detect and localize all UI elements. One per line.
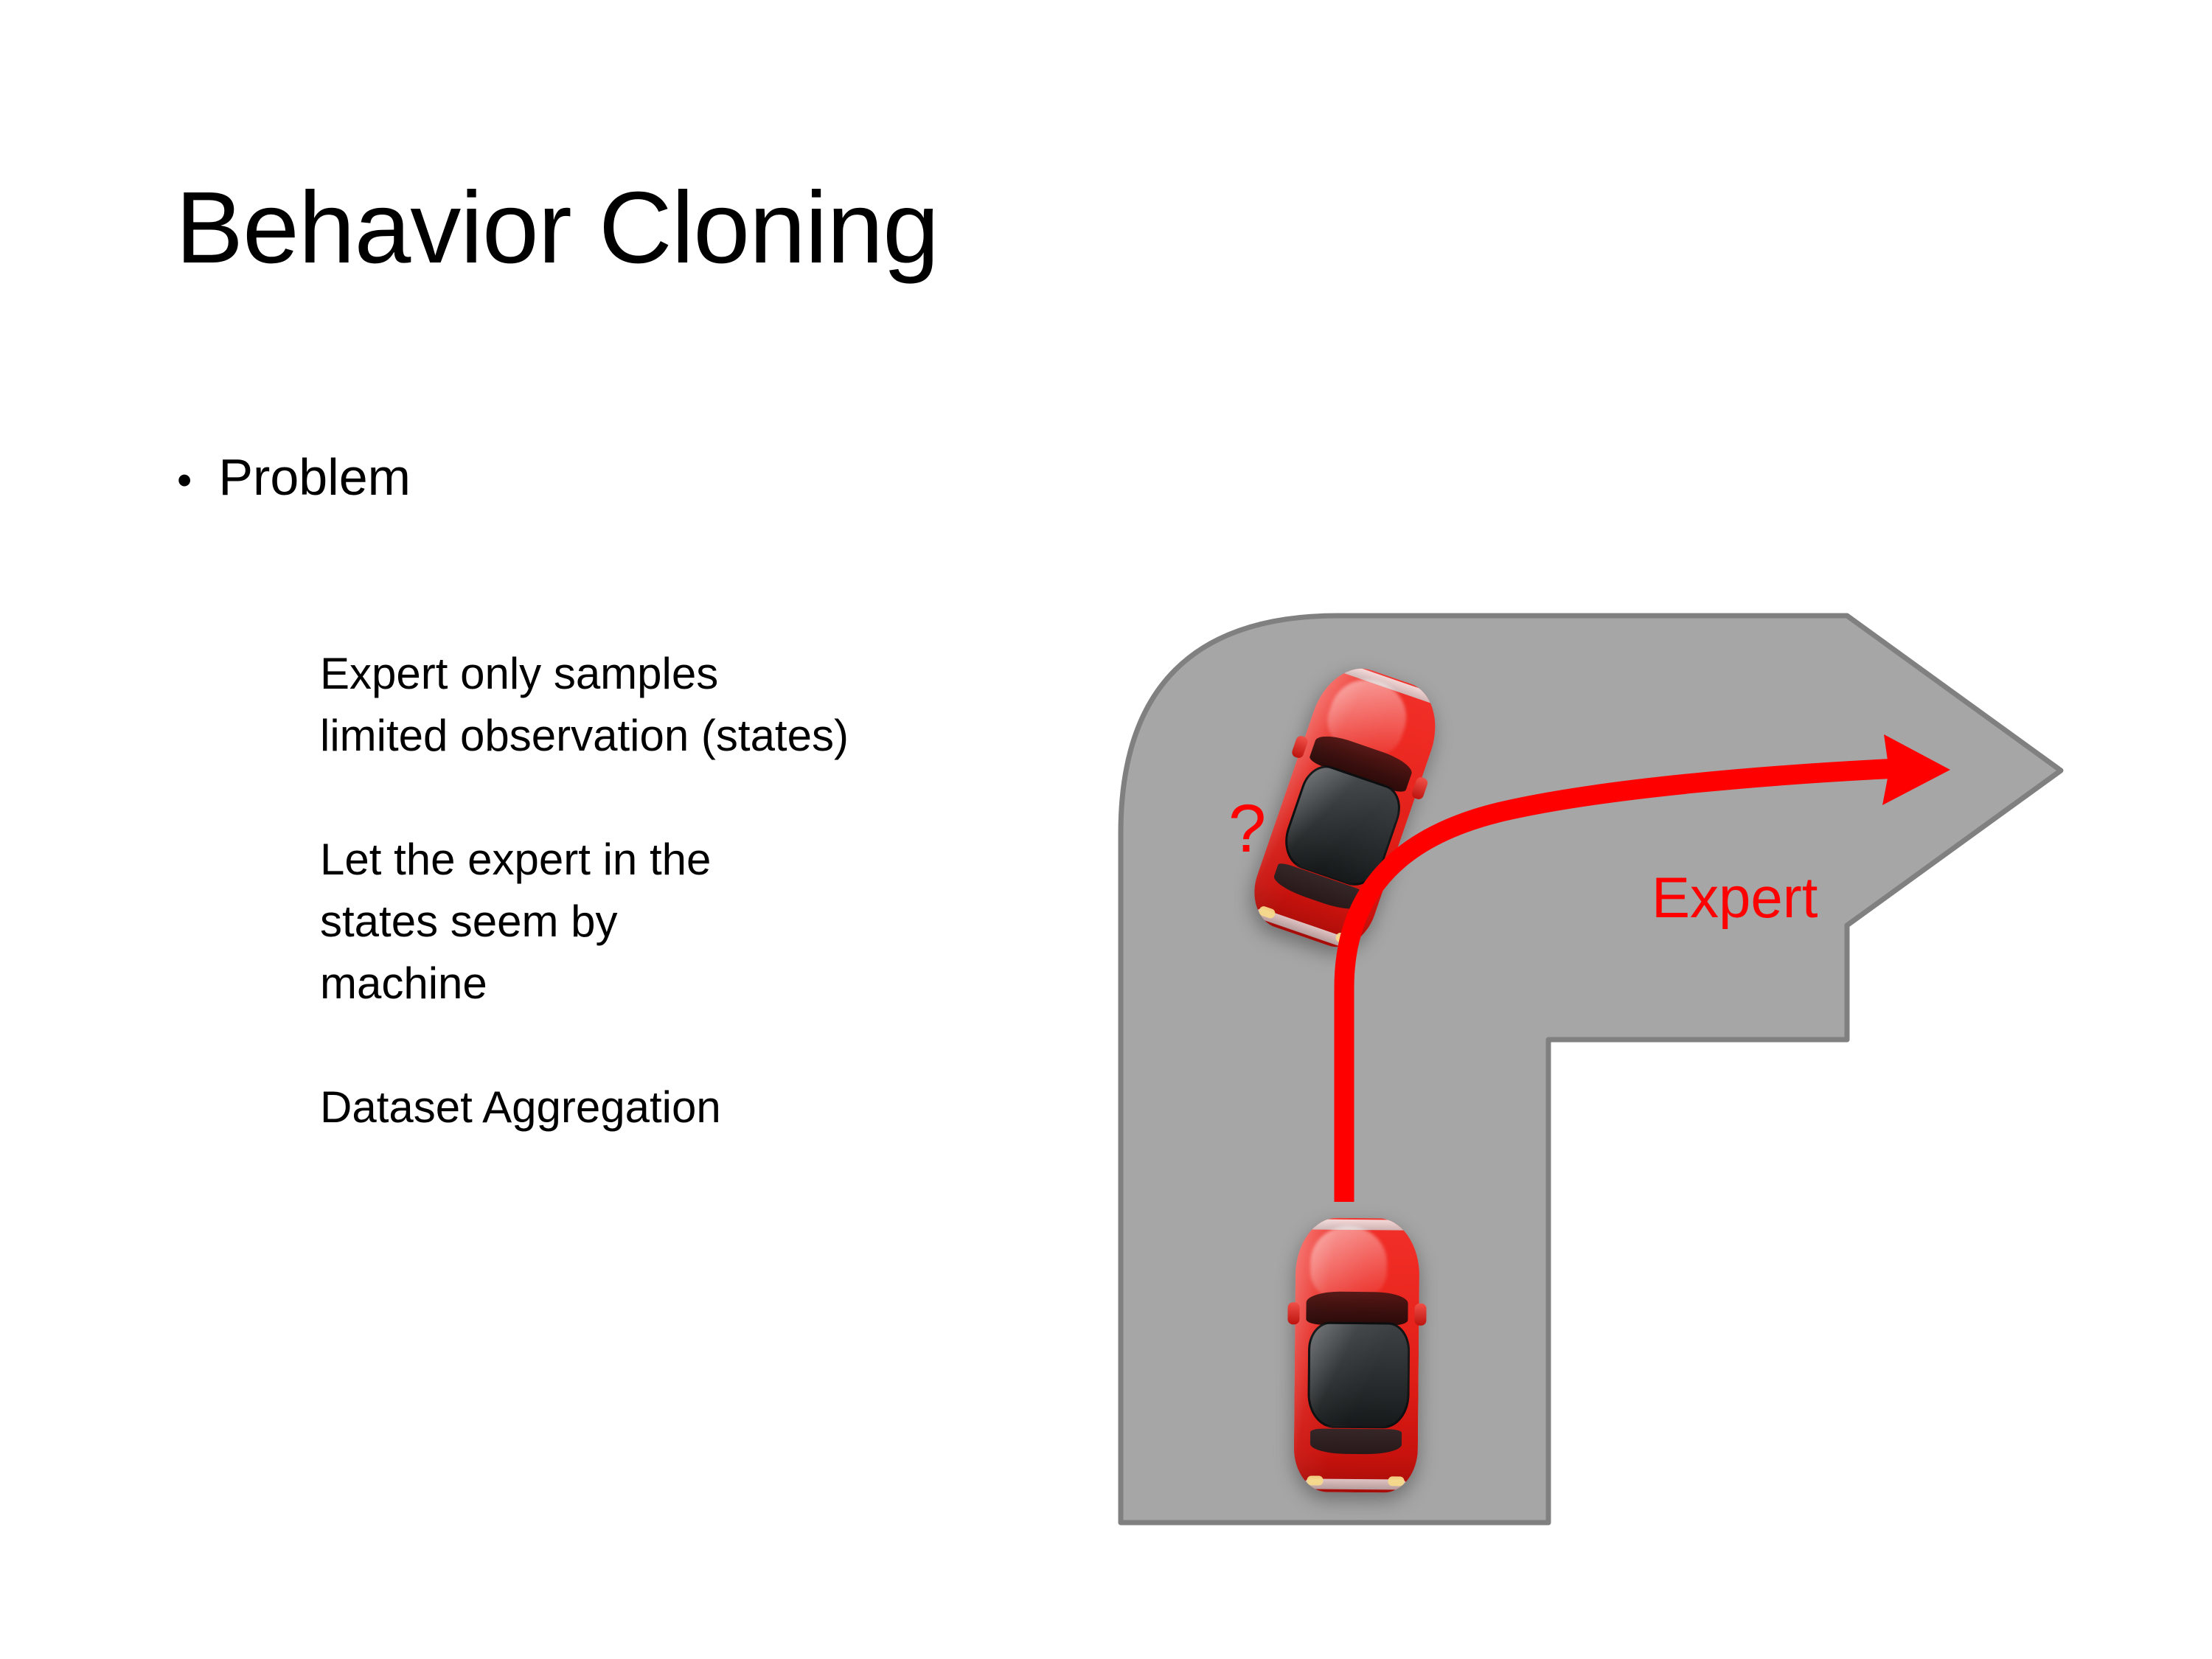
bullet-item-label: Problem (218, 451, 411, 503)
car-mirror-left (1287, 1302, 1299, 1324)
car-body (1293, 1217, 1419, 1492)
sub-points-block: Expert only samples limited observation … (320, 643, 1146, 1138)
sub-point-line: Expert only samples (320, 643, 1146, 705)
bullet-point-icon: • (177, 459, 192, 502)
sub-point-line: Let the expert in the (320, 829, 1146, 891)
car-tail-light-right (1388, 1476, 1404, 1486)
slide-canvas: Behavior Cloning • Problem Expert only s… (0, 0, 2212, 1659)
sub-point-expert-samples: Expert only samples limited observation … (320, 643, 1146, 767)
sub-point-line: Dataset Aggregation (320, 1077, 1146, 1138)
road-shape-svg (1091, 590, 2109, 1556)
road-surface (1121, 616, 2061, 1523)
car-roof (1308, 1322, 1410, 1429)
car-mirror-right (1414, 1304, 1426, 1326)
question-mark-annotation: ? (1228, 795, 1266, 863)
expert-trajectory-label: Expert (1652, 869, 1818, 926)
road-turn-diagram: ? Expert (1091, 590, 2109, 1556)
sub-point-line: states seem by (320, 891, 1146, 953)
car-hood-highlight (1310, 1226, 1388, 1301)
paragraph-spacer (320, 767, 1146, 829)
paragraph-spacer (320, 1015, 1146, 1077)
sub-point-dataset-aggregation: Dataset Aggregation (320, 1077, 1146, 1138)
car-rear-window (1310, 1429, 1402, 1455)
car-windshield (1306, 1292, 1408, 1326)
bullet-item-problem: • Problem (177, 451, 411, 503)
sub-point-line: limited observation (states) (320, 705, 1146, 767)
car-tail-light-left (1307, 1475, 1324, 1485)
sub-point-line: machine (320, 953, 1146, 1015)
car-start (1293, 1217, 1419, 1492)
page-title: Behavior Cloning (175, 177, 939, 279)
sub-point-let-expert: Let the expert in the states seem by mac… (320, 829, 1146, 1015)
